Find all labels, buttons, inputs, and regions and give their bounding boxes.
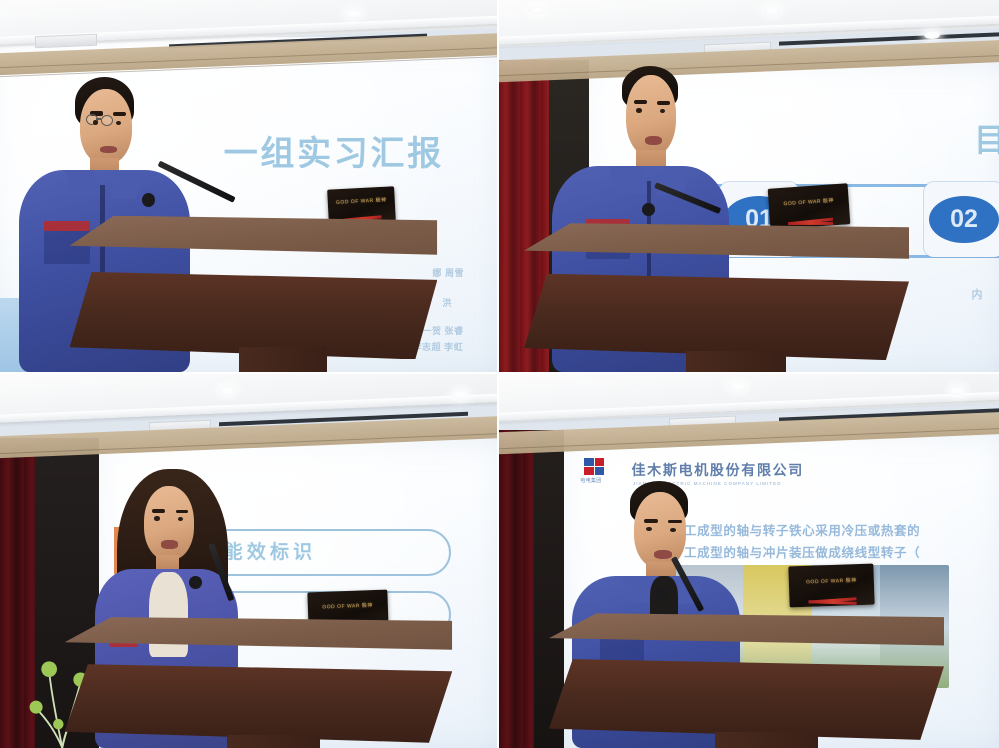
he-logo-icon: [584, 458, 604, 475]
podium-face: [549, 659, 944, 740]
downlight-icon: [924, 31, 940, 40]
badge-02-container: 02: [924, 182, 999, 256]
podium-base: [686, 351, 786, 372]
podium-base: [239, 347, 327, 372]
podium-base: [227, 735, 320, 748]
slide-credit-2: 洪: [442, 296, 452, 309]
podium-face: [65, 664, 453, 743]
company-logo: [584, 458, 604, 475]
podium: [70, 216, 438, 372]
mouth: [100, 146, 117, 153]
nameplate-emblem: GOD OF WAR 殷神: [806, 576, 857, 585]
microphone-head: [654, 587, 667, 600]
podium-face: [524, 274, 909, 360]
downlight-icon: [345, 9, 362, 18]
badge-02: 02: [929, 196, 999, 244]
stage-curtain: [499, 430, 534, 748]
mouth: [654, 550, 672, 559]
microphone-head: [189, 576, 202, 589]
company-name-cn: 佳木斯电机股份有限公司: [632, 460, 804, 480]
slide-title: 一组实习汇报: [224, 126, 444, 175]
panel-bottom-left: 1 能效标识 标识管理中心 YFBX GOD OF WAR 殷神: [0, 374, 499, 748]
panel-top-right: 目 01 02 内 GOD OF WAR 殷神: [499, 0, 999, 374]
downlight-icon: [452, 390, 469, 399]
podium: [524, 223, 909, 372]
podium-base: [715, 732, 818, 748]
downlight-icon: [764, 6, 780, 15]
panel-top-left: 一组实习汇报 娜 周雪 洪 一贺 张睿 李志超 李虹 GOD OF WAR 殷神: [0, 0, 499, 374]
mouth: [161, 540, 177, 549]
nameplate-emblem: GOD OF WAR 殷神: [336, 196, 387, 206]
mouth: [645, 136, 662, 145]
microphone-head: [642, 203, 655, 216]
head: [144, 486, 194, 560]
podium: [65, 617, 453, 748]
slide-title: 目: [974, 115, 999, 161]
photo-collage: 一组实习汇报 娜 周雪 洪 一贺 张睿 李志超 李虹 GOD OF WAR 殷神: [0, 0, 999, 748]
nameplate-emblem: GOD OF WAR 殷神: [783, 196, 834, 207]
ceiling-vent: [35, 34, 97, 48]
microphone-head: [142, 193, 155, 206]
slide-footer-text: 内: [972, 286, 984, 302]
downlight-icon: [949, 386, 966, 395]
podium: [549, 613, 944, 748]
nameplate-emblem: GOD OF WAR 殷神: [322, 601, 373, 610]
podium-nameplate: GOD OF WAR 殷神: [788, 563, 874, 607]
panel-bottom-right: 哈电集团 佳木斯电机股份有限公司 JIAMUSI ELECTRIC MACHIN…: [499, 374, 999, 748]
